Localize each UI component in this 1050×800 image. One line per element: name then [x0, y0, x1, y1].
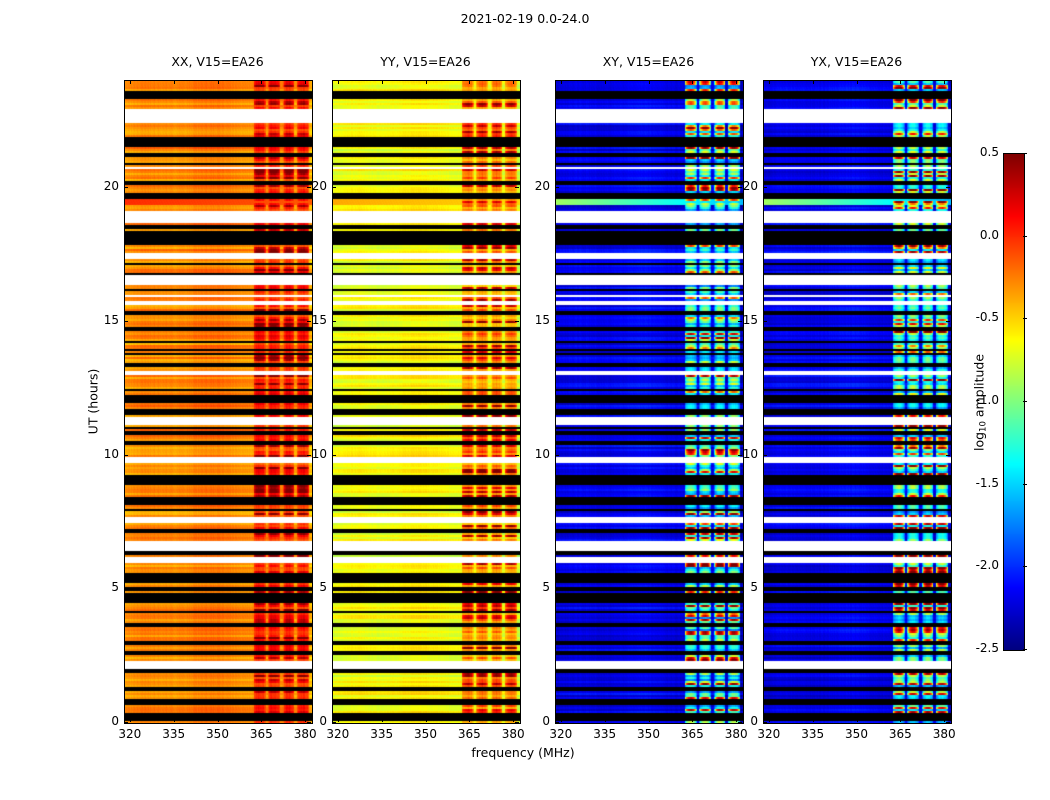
colorbar-tick-label: -1.5: [959, 476, 999, 490]
y-tick-mark: [763, 321, 767, 322]
y-tick-label: 0: [90, 714, 119, 728]
panel-title-yy: YY, V15=EA26: [332, 54, 519, 69]
colorbar-tick-label: 0.5: [959, 145, 999, 159]
y-tick-label: 10: [298, 447, 327, 461]
colorbar-tick-label: -0.5: [959, 310, 999, 324]
x-tick-mark-top: [561, 80, 562, 84]
y-tick-mark: [555, 722, 559, 723]
x-tick-label: 335: [791, 727, 835, 741]
colorbar-label-sub: 10: [979, 421, 989, 432]
x-tick-mark-top: [338, 80, 339, 84]
y-tick-label: 0: [298, 714, 327, 728]
y-tick-mark: [763, 455, 767, 456]
x-tick-mark: [769, 718, 770, 722]
y-tick-mark-right: [515, 722, 519, 723]
y-tick-mark: [555, 588, 559, 589]
colorbar-tick-mark: [1023, 153, 1027, 154]
x-tick-label: 320: [108, 727, 152, 741]
heatmap-panel-yx[interactable]: [763, 80, 952, 724]
x-tick-mark: [130, 718, 131, 722]
y-tick-mark: [124, 455, 128, 456]
x-tick-mark: [649, 718, 650, 722]
x-tick-mark-top: [769, 80, 770, 84]
y-tick-mark-right: [946, 455, 950, 456]
colorbar-tick-mark: [1023, 401, 1027, 402]
x-tick-mark-top: [944, 80, 945, 84]
x-tick-mark: [382, 718, 383, 722]
x-tick-label: 380: [283, 727, 327, 741]
x-tick-label: 380: [922, 727, 966, 741]
panel-title-xx: XX, V15=EA26: [124, 54, 311, 69]
colorbar-tick-mark: [1023, 484, 1027, 485]
y-tick-mark: [763, 588, 767, 589]
y-tick-mark-right: [946, 321, 950, 322]
figure-canvas: 2021-02-19 0.0-24.0 XX, V15=EA26 YY, V15…: [0, 0, 1050, 800]
y-tick-mark: [332, 455, 336, 456]
panel-title-yx: YX, V15=EA26: [763, 54, 950, 69]
y-axis-label: UT (hours): [86, 302, 101, 502]
y-tick-mark: [332, 722, 336, 723]
x-tick-mark-top: [382, 80, 383, 84]
y-tick-mark: [124, 588, 128, 589]
y-tick-label: 20: [90, 179, 119, 193]
x-tick-mark-top: [900, 80, 901, 84]
x-tick-mark-top: [218, 80, 219, 84]
x-tick-mark: [218, 718, 219, 722]
x-tick-mark: [944, 718, 945, 722]
x-tick-mark: [174, 718, 175, 722]
y-tick-label: 10: [521, 447, 550, 461]
colorbar-tick-mark: [1023, 236, 1027, 237]
x-tick-mark-top: [426, 80, 427, 84]
y-tick-label: 15: [90, 313, 119, 327]
x-tick-mark-top: [813, 80, 814, 84]
y-tick-label: 20: [298, 179, 327, 193]
y-tick-mark: [555, 455, 559, 456]
x-axis-label: frequency (MHz): [333, 745, 713, 760]
x-tick-mark-top: [736, 80, 737, 84]
x-tick-mark-top: [513, 80, 514, 84]
y-tick-label: 5: [521, 580, 550, 594]
y-tick-label: 10: [90, 447, 119, 461]
y-tick-mark: [124, 722, 128, 723]
y-tick-mark: [763, 722, 767, 723]
x-tick-label: 365: [878, 727, 922, 741]
x-tick-mark-top: [857, 80, 858, 84]
y-tick-label: 10: [729, 447, 758, 461]
y-tick-mark-right: [946, 588, 950, 589]
x-tick-label: 365: [670, 727, 714, 741]
x-tick-mark: [692, 718, 693, 722]
x-tick-label: 350: [835, 727, 879, 741]
colorbar-label-rest: amplitude: [972, 354, 987, 421]
y-tick-mark-right: [946, 722, 950, 723]
x-tick-mark-top: [605, 80, 606, 84]
x-tick-label: 365: [447, 727, 491, 741]
y-tick-mark: [332, 321, 336, 322]
colorbar[interactable]: [1003, 153, 1025, 651]
x-tick-mark-top: [130, 80, 131, 84]
colorbar-tick-label: 0.0: [959, 228, 999, 242]
x-tick-label: 350: [404, 727, 448, 741]
x-tick-label: 350: [627, 727, 671, 741]
colorbar-tick-mark: [1023, 318, 1027, 319]
x-tick-mark: [426, 718, 427, 722]
x-tick-mark-top: [469, 80, 470, 84]
y-tick-mark: [555, 321, 559, 322]
x-tick-mark-top: [649, 80, 650, 84]
y-tick-label: 15: [298, 313, 327, 327]
colorbar-tick-mark: [1023, 566, 1027, 567]
y-tick-label: 5: [90, 580, 119, 594]
y-tick-mark: [555, 187, 559, 188]
x-tick-mark: [813, 718, 814, 722]
x-tick-mark: [857, 718, 858, 722]
x-tick-mark: [338, 718, 339, 722]
x-tick-label: 335: [360, 727, 404, 741]
x-tick-label: 335: [583, 727, 627, 741]
y-tick-label: 20: [521, 179, 550, 193]
y-tick-label: 0: [521, 714, 550, 728]
colorbar-tick-label: -2.0: [959, 558, 999, 572]
y-tick-mark: [124, 187, 128, 188]
colorbar-label-log: log: [972, 432, 987, 451]
colorbar-tick-label: -2.5: [959, 641, 999, 655]
colorbar-tick-label: -1.0: [959, 393, 999, 407]
x-tick-mark: [513, 718, 514, 722]
heatmap-panel-xx[interactable]: [124, 80, 313, 724]
x-tick-label: 335: [152, 727, 196, 741]
y-tick-label: 15: [521, 313, 550, 327]
y-tick-label: 0: [729, 714, 758, 728]
x-tick-label: 350: [196, 727, 240, 741]
colorbar-tick-mark: [1023, 649, 1027, 650]
heatmap-panel-xy[interactable]: [555, 80, 744, 724]
x-tick-mark-top: [261, 80, 262, 84]
y-tick-mark: [332, 187, 336, 188]
x-tick-label: 365: [239, 727, 283, 741]
y-tick-label: 5: [298, 580, 327, 594]
x-tick-label: 380: [491, 727, 535, 741]
x-tick-label: 320: [539, 727, 583, 741]
x-tick-label: 380: [714, 727, 758, 741]
x-tick-mark: [561, 718, 562, 722]
figure-suptitle: 2021-02-19 0.0-24.0: [0, 11, 1050, 26]
y-tick-mark-right: [515, 588, 519, 589]
panel-title-xy: XY, V15=EA26: [555, 54, 742, 69]
x-tick-mark: [900, 718, 901, 722]
y-tick-mark: [763, 187, 767, 188]
y-tick-mark-right: [515, 321, 519, 322]
y-tick-mark: [332, 588, 336, 589]
x-tick-mark: [261, 718, 262, 722]
y-tick-mark-right: [946, 187, 950, 188]
y-tick-mark: [124, 321, 128, 322]
heatmap-panel-yy[interactable]: [332, 80, 521, 724]
y-tick-label: 20: [729, 179, 758, 193]
y-tick-mark-right: [515, 187, 519, 188]
x-tick-mark: [469, 718, 470, 722]
y-tick-label: 5: [729, 580, 758, 594]
x-tick-mark-top: [305, 80, 306, 84]
x-tick-mark-top: [692, 80, 693, 84]
x-tick-mark: [605, 718, 606, 722]
y-tick-label: 15: [729, 313, 758, 327]
y-tick-mark-right: [515, 455, 519, 456]
x-tick-mark-top: [174, 80, 175, 84]
